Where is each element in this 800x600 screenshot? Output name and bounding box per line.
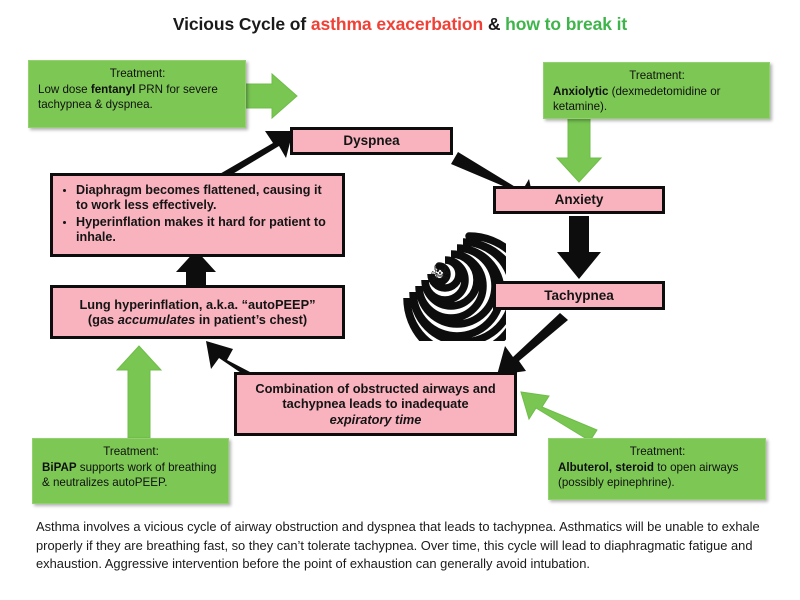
treatment-box-fentanyl[interactable]: Treatment: Low dose fentanyl PRN for sev… — [28, 60, 246, 128]
node-anxiety-label: Anxiety — [555, 192, 604, 208]
treatment-box-bipap[interactable]: Treatment: BiPAP supports work of breath… — [32, 438, 229, 504]
node-anxiety[interactable]: Anxiety — [493, 186, 665, 214]
green-arrow-fentanyl-to-dyspnea — [243, 74, 297, 118]
treatment-box-albuterol[interactable]: Treatment: Albuterol, steroid to open ai… — [548, 438, 766, 500]
combination-line-2: tachypnea leads to inadequate — [282, 396, 468, 411]
diaphragm-bullet-list: Diaphragm becomes flattened, causing it … — [59, 183, 334, 246]
green-arrow-bipap-to-autopeep — [117, 346, 161, 438]
autopeep-line-2-post: in patient’s chest) — [195, 312, 307, 327]
caption-paragraph: Asthma involves a vicious cycle of airwa… — [36, 518, 770, 574]
treatment-bipap-heading: Treatment: — [42, 444, 220, 460]
green-arrow-albuterol-to-combination — [521, 392, 597, 441]
treatment-box-anxiolytic[interactable]: Treatment: Anxiolytic (dexmedetomidine o… — [543, 62, 770, 119]
treatment-bipap-drug: BiPAP — [42, 461, 77, 474]
combination-line-1: Combination of obstructed airways and — [255, 381, 495, 396]
treatment-albuterol-heading: Treatment: — [558, 444, 757, 460]
treatment-fentanyl-heading: Treatment: — [38, 66, 237, 82]
title-segment-amp: & — [483, 14, 505, 34]
autopeep-line-2-pre: (gas — [88, 312, 118, 327]
node-lung-hyperinflation[interactable]: Lung hyperinflation, a.k.a. “autoPEEP” (… — [50, 285, 345, 339]
treatment-anxiolytic-heading: Treatment: — [553, 68, 761, 84]
diagram-canvas: Vicious Cycle of asthma exacerbation & h… — [0, 0, 800, 600]
autopeep-line-2: (gas accumulates in patient’s chest) — [88, 312, 307, 327]
autopeep-line-1: Lung hyperinflation, a.k.a. “autoPEEP” — [79, 297, 315, 312]
node-tachypnea[interactable]: Tachypnea — [493, 281, 665, 310]
node-diaphragm-fatigue[interactable]: Diaphragm becomes flattened, causing it … — [50, 173, 345, 257]
treatment-albuterol-drug: Albuterol, steroid — [558, 461, 654, 474]
title-segment-prefix: Vicious Cycle of — [173, 14, 311, 34]
title-segment-asthma: asthma exacerbation — [311, 14, 483, 34]
title-segment-break: how to break it — [505, 14, 627, 34]
node-dyspnea-label: Dyspnea — [343, 133, 399, 149]
autopeep-emphasis: accumulates — [118, 312, 196, 327]
treatment-fentanyl-body: Low dose fentanyl PRN for severe tachypn… — [38, 82, 237, 113]
treatment-fentanyl-before: Low dose — [38, 83, 91, 96]
list-item: Diaphragm becomes flattened, causing it … — [76, 183, 334, 213]
treatment-anxiolytic-body: Anxiolytic (dexmedetomidine or ketamine)… — [553, 84, 761, 115]
black-arrow-anxiety-to-tachypnea — [557, 216, 601, 279]
list-item: Hyperinflation makes it hard for patient… — [76, 215, 334, 245]
node-tachypnea-label: Tachypnea — [544, 288, 614, 304]
page-title: Vicious Cycle of asthma exacerbation & h… — [0, 14, 800, 35]
node-dyspnea[interactable]: Dyspnea — [290, 127, 453, 155]
treatment-fentanyl-drug: fentanyl — [91, 83, 135, 96]
node-combination-obstruction[interactable]: Combination of obstructed airways and ta… — [234, 372, 517, 436]
combination-line-3-emphasis: expiratory time — [330, 412, 422, 427]
treatment-albuterol-body: Albuterol, steroid to open airways (poss… — [558, 460, 757, 491]
black-arrow-tachypnea-to-combination — [497, 313, 568, 375]
green-arrow-anxiolytic-to-anxiety — [557, 118, 601, 182]
treatment-bipap-body: BiPAP supports work of breathing & neutr… — [42, 460, 220, 491]
treatment-anxiolytic-drug: Anxiolytic — [553, 85, 608, 98]
skull-and-crossbones-icon: ☠ — [424, 256, 456, 288]
